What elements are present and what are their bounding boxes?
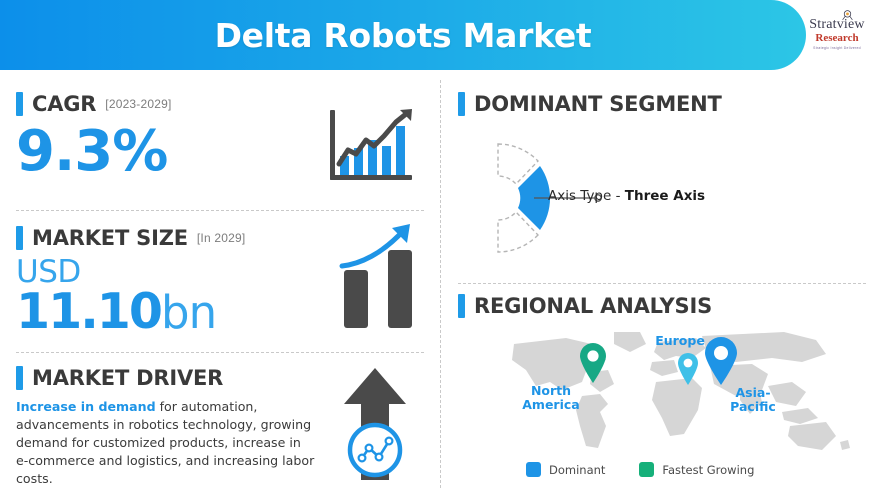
region-label-line: Asia- [735, 385, 770, 400]
accent-tick [458, 92, 465, 116]
market-driver-section: MARKET DRIVER Increase in demand for aut… [16, 366, 316, 487]
left-divider-2 [16, 352, 424, 353]
cagr-period: [2023-2029] [105, 97, 171, 111]
left-divider-1 [16, 210, 424, 211]
map-pin-icon-north-america[interactable] [578, 342, 608, 384]
legend-label-fastest-growing: Fastest Growing [662, 463, 754, 477]
column-divider [440, 80, 441, 488]
market-driver-highlight: Increase in demand [16, 399, 156, 414]
callout-prefix: Axis Type - [548, 188, 625, 204]
market-size-section: MARKET SIZE [In 2029] USD 11.10bn [16, 226, 316, 336]
dominant-segment-section: DOMINANT SEGMENT [458, 92, 868, 116]
accent-tick [16, 226, 23, 250]
market-size-value: 11.10bn [16, 287, 316, 336]
regional-analysis-header: REGIONAL ANALYSIS [458, 294, 868, 318]
market-driver-header: MARKET DRIVER [16, 366, 316, 390]
callout-value: Three Axis [625, 188, 705, 204]
region-label-line: North [531, 383, 571, 398]
map-legend: Dominant Fastest Growing [526, 462, 754, 477]
logo-name-sub: Research [815, 32, 858, 45]
dominant-segment-callout: Axis Type - Three Axis [548, 188, 705, 204]
region-label-line: America [522, 397, 579, 412]
market-driver-text: Increase in demand for automation, advan… [16, 398, 316, 487]
page-title: Delta Robots Market [215, 16, 592, 55]
region-label-europe: Europe [645, 334, 715, 348]
region-label-north-america: North America [515, 384, 587, 413]
market-size-unit: bn [161, 286, 216, 339]
accent-tick [16, 366, 23, 390]
legend-swatch-fastest-growing [639, 462, 654, 477]
region-label-asia-pacific: Asia- Pacific [722, 386, 784, 415]
region-label-line: Pacific [730, 399, 776, 414]
regional-analysis-title: REGIONAL ANALYSIS [474, 294, 712, 318]
bar-chart-growth-icon [322, 106, 418, 192]
legend-label-dominant: Dominant [549, 463, 605, 477]
legend-swatch-dominant [526, 462, 541, 477]
map-pin-icon-europe[interactable] [676, 352, 700, 386]
header-bar: Delta Robots Market [0, 0, 806, 70]
up-arrow-analytics-icon [336, 362, 414, 482]
cagr-title: CAGR [32, 92, 96, 116]
right-divider-1 [458, 283, 866, 284]
legend-item-dominant: Dominant [526, 462, 605, 477]
dominant-segment-title: DOMINANT SEGMENT [474, 92, 722, 116]
dominant-segment-header: DOMINANT SEGMENT [458, 92, 868, 116]
market-size-header: MARKET SIZE [In 2029] [16, 226, 316, 250]
stratview-research-logo: Stratview Research Strategic Insight Del… [800, 8, 874, 60]
legend-item-fastest-growing: Fastest Growing [639, 462, 754, 477]
bar-growth-arrow-icon [334, 222, 424, 332]
accent-tick [458, 294, 465, 318]
cagr-header: CAGR [2023-2029] [16, 92, 316, 116]
market-size-title: MARKET SIZE [32, 226, 188, 250]
cagr-value: 9.3% [16, 124, 316, 180]
logo-mark-icon [841, 9, 854, 22]
market-size-number: 11.10 [16, 283, 161, 340]
accent-tick [16, 92, 23, 116]
market-driver-title: MARKET DRIVER [32, 366, 223, 390]
regional-analysis-section: REGIONAL ANALYSIS [458, 294, 868, 318]
logo-tagline: Strategic Insight Delivered [813, 46, 861, 50]
market-size-period: [In 2029] [197, 231, 246, 245]
logo-name-main: Stratview [809, 18, 864, 32]
infographic-page: Delta Robots Market Stratview Research S… [0, 0, 882, 496]
cagr-section: CAGR [2023-2029] 9.3% [16, 92, 316, 180]
